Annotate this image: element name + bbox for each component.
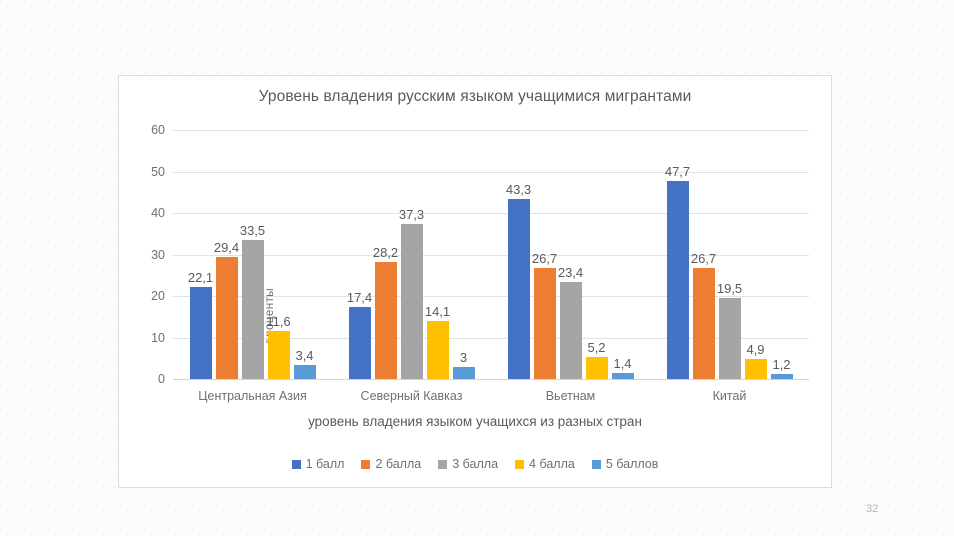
bar[interactable] — [693, 268, 715, 379]
bar-item[interactable]: 5,2 — [586, 130, 608, 379]
x-axis-category-label: Центральная Азия — [198, 389, 306, 403]
legend-item[interactable]: 4 балла — [515, 457, 575, 471]
bar-value-label: 19,5 — [717, 281, 742, 296]
legend-label: 4 балла — [529, 457, 575, 471]
bar-value-label: 37,3 — [399, 207, 424, 222]
bar-value-label: 3,4 — [295, 348, 313, 363]
bar-value-label: 14,1 — [425, 304, 450, 319]
y-axis-tick-label: 10 — [151, 331, 165, 345]
bar-item[interactable]: 43,3 — [508, 130, 530, 379]
bar[interactable] — [294, 365, 316, 379]
bar[interactable] — [401, 224, 423, 379]
bar-item[interactable]: 26,7 — [693, 130, 715, 379]
bar[interactable] — [268, 331, 290, 379]
x-axis-category-label: Северный Кавказ — [361, 389, 463, 403]
legend-label: 5 баллов — [606, 457, 659, 471]
bar-value-label: 17,4 — [347, 290, 372, 305]
x-axis-category-label: Вьетнам — [546, 389, 596, 403]
bar-value-label: 28,2 — [373, 245, 398, 260]
bar-item[interactable]: 4,9 — [745, 130, 767, 379]
bar[interactable] — [771, 374, 793, 379]
bar[interactable] — [508, 199, 530, 379]
legend-swatch — [361, 460, 370, 469]
bar-item[interactable]: 19,5 — [719, 130, 741, 379]
plot-area: 6050403020100 22,129,433,511,63,4Централ… — [173, 130, 809, 379]
bar[interactable] — [745, 359, 767, 379]
bar-value-label: 26,7 — [691, 251, 716, 266]
bar-item[interactable]: 23,4 — [560, 130, 582, 379]
bar[interactable] — [560, 282, 582, 379]
x-axis-category-label: Китай — [713, 389, 747, 403]
legend-item[interactable]: 3 балла — [438, 457, 498, 471]
bar[interactable] — [453, 367, 475, 379]
y-axis-tick-label: 50 — [151, 165, 165, 179]
bar[interactable] — [349, 307, 371, 379]
bar-item[interactable]: 47,7 — [667, 130, 689, 379]
bar-item[interactable]: 28,2 — [375, 130, 397, 379]
bar[interactable] — [190, 287, 212, 379]
y-axis-tick-label: 40 — [151, 206, 165, 220]
chart-container[interactable]: Уровень владения русским языком учащимис… — [118, 75, 832, 488]
bar[interactable] — [242, 240, 264, 379]
y-axis-tick-label: 0 — [158, 372, 165, 386]
bar-value-label: 3 — [460, 350, 467, 365]
bar-item[interactable]: 26,7 — [534, 130, 556, 379]
legend-label: 2 балла — [375, 457, 421, 471]
bar[interactable] — [427, 321, 449, 380]
bar-item[interactable]: 11,6 — [268, 130, 290, 379]
bar-item[interactable]: 14,1 — [427, 130, 449, 379]
bar-value-label: 1,4 — [613, 356, 631, 371]
bar-group: 22,129,433,511,63,4Центральная Азия — [183, 130, 323, 379]
slide-number: 32 — [866, 503, 878, 515]
bar-item[interactable]: 33,5 — [242, 130, 264, 379]
legend-item[interactable]: 2 балла — [361, 457, 421, 471]
bar-item[interactable]: 29,4 — [216, 130, 238, 379]
legend-swatch — [292, 460, 301, 469]
y-axis-tick-label: 60 — [151, 123, 165, 137]
bar-value-label: 33,5 — [240, 223, 265, 238]
bar-group: 43,326,723,45,21,4Вьетнам — [501, 130, 641, 379]
bar[interactable] — [216, 257, 238, 379]
y-axis-tick-label: 20 — [151, 289, 165, 303]
legend-swatch — [515, 460, 524, 469]
bar-item[interactable]: 3,4 — [294, 130, 316, 379]
bar-group: 17,428,237,314,13Северный Кавказ — [342, 130, 482, 379]
bar-item[interactable]: 17,4 — [349, 130, 371, 379]
bar-value-label: 4,9 — [746, 342, 764, 357]
bar-item[interactable]: 1,4 — [612, 130, 634, 379]
x-axis-title: уровень владения языком учащихся из разн… — [119, 414, 831, 429]
bar-value-label: 23,4 — [558, 265, 583, 280]
legend-item[interactable]: 5 баллов — [592, 457, 659, 471]
bar-value-label: 1,2 — [772, 357, 790, 372]
gridline — [173, 379, 809, 380]
bar-value-label: 47,7 — [665, 164, 690, 179]
bar-value-label: 29,4 — [214, 240, 239, 255]
bar[interactable] — [586, 357, 608, 379]
bar-value-label: 11,6 — [266, 314, 290, 329]
bar[interactable] — [375, 262, 397, 379]
bar-value-label: 22,1 — [188, 270, 213, 285]
legend-swatch — [438, 460, 447, 469]
chart-title: Уровень владения русским языком учащимис… — [119, 88, 831, 106]
bar-value-label: 26,7 — [532, 251, 557, 266]
legend-label: 1 балл — [306, 457, 345, 471]
bar-value-label: 43,3 — [506, 182, 531, 197]
bar[interactable] — [612, 373, 634, 379]
bar-item[interactable]: 37,3 — [401, 130, 423, 379]
bar-group: 47,726,719,54,91,2Китай — [660, 130, 800, 379]
chart-legend: 1 балл2 балла3 балла4 балла5 баллов — [119, 457, 831, 471]
bar-value-label: 5,2 — [587, 340, 605, 355]
bar[interactable] — [534, 268, 556, 379]
y-axis-tick-label: 30 — [151, 248, 165, 262]
legend-swatch — [592, 460, 601, 469]
bar[interactable] — [667, 181, 689, 379]
bar-item[interactable]: 22,1 — [190, 130, 212, 379]
legend-item[interactable]: 1 балл — [292, 457, 345, 471]
legend-label: 3 балла — [452, 457, 498, 471]
bar[interactable] — [719, 298, 741, 379]
bar-item[interactable]: 3 — [453, 130, 475, 379]
bar-item[interactable]: 1,2 — [771, 130, 793, 379]
